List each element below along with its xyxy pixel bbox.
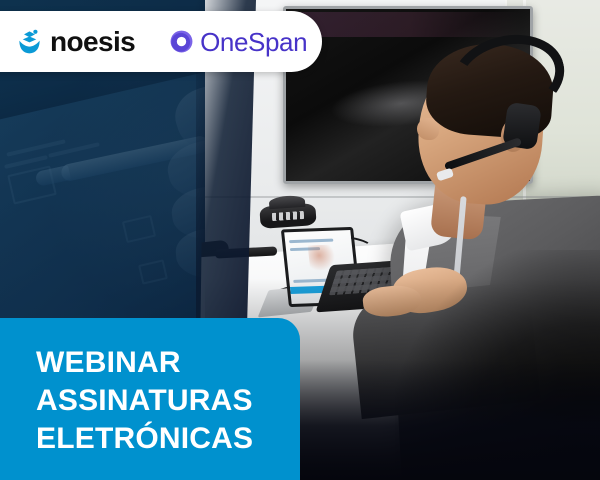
- noesis-logo[interactable]: noesis: [16, 28, 135, 56]
- title-line-1: WEBINAR: [36, 344, 300, 382]
- onespan-logo[interactable]: OneSpan: [169, 29, 307, 55]
- noesis-wordmark: noesis: [50, 28, 135, 56]
- title-line-3: ELETRÓNICAS: [36, 420, 300, 458]
- title-panel: WEBINAR ASSINATURAS ELETRÓNICAS: [0, 318, 300, 480]
- title-line-2: ASSINATURAS: [36, 382, 300, 420]
- onespan-wordmark: OneSpan: [200, 29, 307, 55]
- onespan-ring-icon: [169, 29, 194, 54]
- noesis-lotus-icon: [16, 28, 43, 55]
- webinar-promo-banner: noesis OneSpan WEBINAR ASSINATURAS ELETR…: [0, 0, 600, 480]
- logo-bar: noesis OneSpan: [0, 11, 322, 72]
